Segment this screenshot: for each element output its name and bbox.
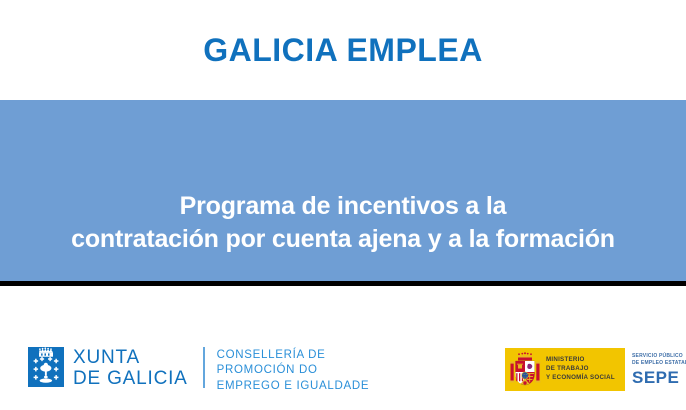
logo-divider [203, 347, 205, 388]
program-banner-line-2: contratación por cuenta ajena y a la for… [23, 223, 663, 256]
galicia-coat-of-arms-icon [28, 347, 64, 387]
title-area: GALICIA EMPLEA [0, 0, 686, 100]
sepe-subtitle: SERVICIO PÚBLICO DE EMPLEO ESTATAL [632, 353, 686, 368]
xunta-wordmark-line-1: XUNTA [73, 347, 188, 368]
government-logos: MINISTERIO DE TRABAJO Y ECONOMÍA SOCIAL … [505, 348, 686, 391]
slide-canvas: GALICIA EMPLEA Programa de incentivos a … [0, 0, 686, 410]
conselleria-text: CONSELLERÍA DE PROMOCIÓN DO EMPREGO E IG… [217, 346, 370, 394]
page-title: GALICIA EMPLEA [203, 34, 483, 66]
program-banner: Programa de incentivos a la contratación… [0, 100, 686, 281]
ministerio-line-2: DE TRABAJO [546, 365, 615, 374]
conselleria-line-1: CONSELLERÍA DE [217, 348, 370, 363]
footer-logos: XUNTA DE GALICIA CONSELLERÍA DE PROMOCIÓ… [0, 286, 686, 410]
sepe-acronym: SEPE [632, 369, 679, 386]
sepe-subtitle-line-1: SERVICIO PÚBLICO [632, 353, 686, 360]
sepe-subtitle-line-2: DE EMPLEO ESTATAL [632, 360, 686, 367]
xunta-wordmark: XUNTA DE GALICIA [73, 346, 188, 390]
conselleria-line-2: PROMOCIÓN DO [217, 363, 370, 378]
program-banner-text: Programa de incentivos a la contratación… [23, 190, 663, 256]
xunta-de-galicia-logo: XUNTA DE GALICIA CONSELLERÍA DE PROMOCIÓ… [28, 346, 369, 394]
spain-coat-of-arms-icon [509, 351, 541, 389]
xunta-wordmark-line-2: DE GALICIA [73, 368, 188, 389]
ministerio-logo: MINISTERIO DE TRABAJO Y ECONOMÍA SOCIAL [505, 348, 625, 391]
ministerio-text: MINISTERIO DE TRABAJO Y ECONOMÍA SOCIAL [546, 356, 615, 382]
ministerio-line-3: Y ECONOMÍA SOCIAL [546, 374, 615, 383]
ministerio-line-1: MINISTERIO [546, 356, 615, 365]
conselleria-line-3: EMPREGO E IGUALDADE [217, 379, 370, 394]
program-banner-line-1: Programa de incentivos a la [23, 190, 663, 223]
sepe-logo: SERVICIO PÚBLICO DE EMPLEO ESTATAL SEPE [625, 348, 686, 391]
